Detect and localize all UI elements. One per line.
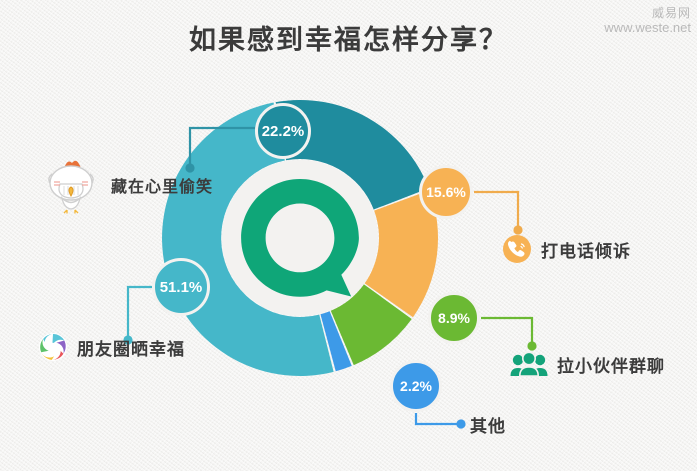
infographic-canvas: 威易网 www.weste.net 如果感到幸福怎样分享？ — [0, 0, 697, 471]
page-title: 如果感到幸福怎样分享？ — [0, 18, 697, 57]
legend-wechat-moments[interactable]: 朋友圈晒幸福 — [38, 332, 185, 362]
chicken-giggle-icon — [40, 156, 102, 214]
percent-bubble-other[interactable]: 2.2% — [390, 360, 442, 412]
legend-label-hide-in-heart: 藏在心里偷笑 — [111, 173, 213, 197]
legend-other[interactable]: 其他 — [470, 412, 506, 437]
q-speech-bubble-logo — [222, 160, 378, 316]
moments-flower-icon — [38, 332, 68, 362]
percent-bubble-group-chat[interactable]: 8.9% — [428, 292, 480, 344]
legend-hide-in-heart[interactable]: 藏在心里偷笑 — [40, 156, 213, 214]
connector-group-chat — [481, 318, 537, 351]
phone-icon — [502, 234, 532, 264]
legend-label-other: 其他 — [470, 412, 506, 437]
legend-phone-call[interactable]: 打电话倾诉 — [502, 234, 631, 264]
connector-phone-call — [474, 192, 523, 235]
legend-label-wechat-moments: 朋友圈晒幸福 — [77, 335, 185, 360]
legend-label-group-chat: 拉小伙伴群聊 — [557, 352, 665, 377]
connector-other — [416, 413, 466, 429]
percent-bubble-wechat-moments[interactable]: 51.1% — [152, 258, 210, 316]
group-chat-icon — [510, 351, 548, 377]
percent-bubble-hide-in-heart[interactable]: 22.2% — [255, 103, 311, 159]
legend-label-phone-call: 打电话倾诉 — [541, 237, 631, 262]
legend-group-chat[interactable]: 拉小伙伴群聊 — [510, 351, 665, 377]
percent-bubble-phone-call[interactable]: 15.6% — [419, 165, 473, 219]
